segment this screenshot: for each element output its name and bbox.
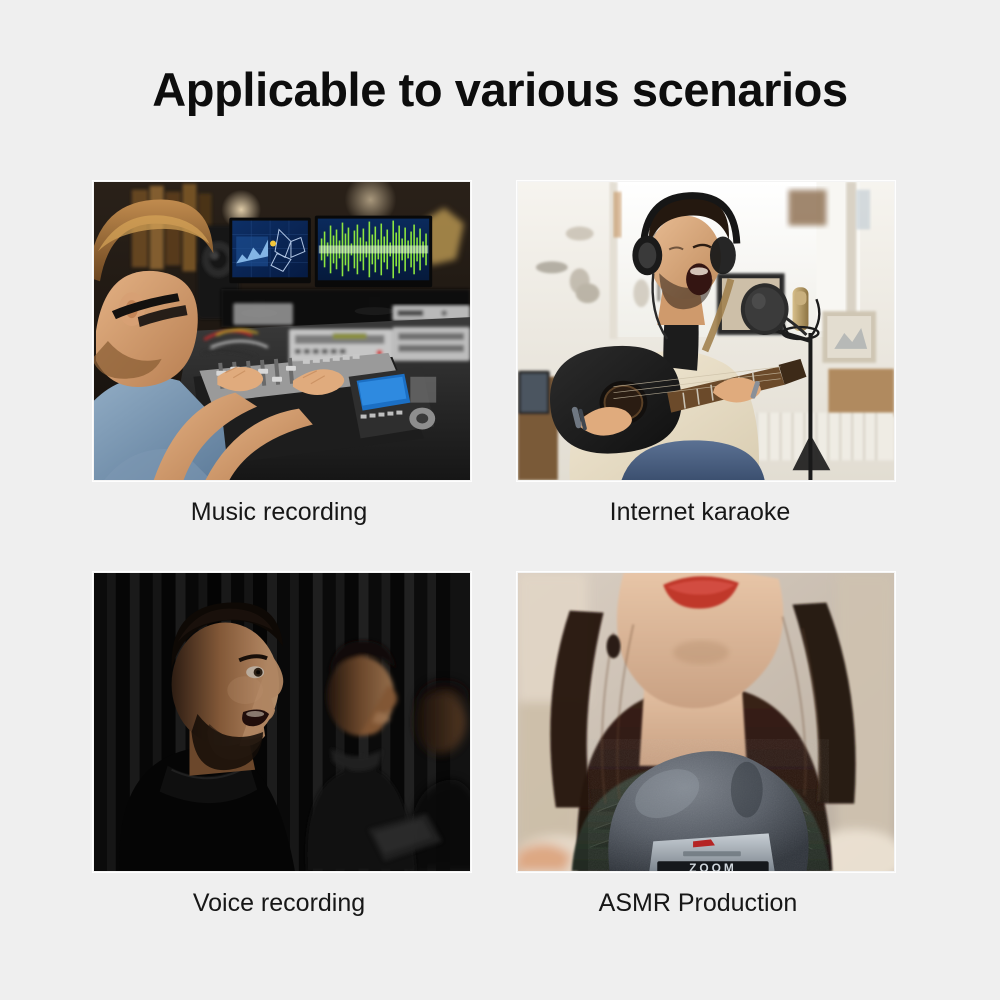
scenario-image-internet-karaoke: [517, 181, 895, 481]
scenario-card-internet-karaoke[interactable]: Internet karaoke: [517, 181, 895, 527]
scenario-caption-internet-karaoke: Internet karaoke: [511, 497, 889, 527]
asmr-closeup-illustration: ZOOM: [518, 573, 894, 871]
page-title: Applicable to various scenarios: [0, 62, 1000, 117]
zoom-recorder-wordmark: ZOOM: [689, 861, 737, 871]
scenario-image-voice-recording: [93, 572, 471, 872]
scenario-caption-asmr-production: ASMR Production: [509, 888, 887, 918]
scenario-caption-music-recording: Music recording: [90, 497, 468, 527]
scenario-card-voice-recording[interactable]: Voice recording: [93, 572, 471, 918]
studio-engineer-illustration: [94, 182, 470, 480]
scenario-caption-voice-recording: Voice recording: [90, 888, 468, 918]
scenario-image-asmr-production: ZOOM: [517, 572, 895, 872]
scenario-card-music-recording[interactable]: Music recording: [93, 181, 471, 527]
scenario-image-music-recording: [93, 181, 471, 481]
scenarios-page: Applicable to various scenarios: [0, 0, 1000, 1000]
scenario-card-asmr-production[interactable]: ZOOM ASMR Production: [517, 572, 895, 918]
scenario-grid: Music recording: [93, 181, 895, 941]
vocalists-illustration: [94, 573, 470, 871]
karaoke-singer-illustration: [518, 182, 894, 480]
